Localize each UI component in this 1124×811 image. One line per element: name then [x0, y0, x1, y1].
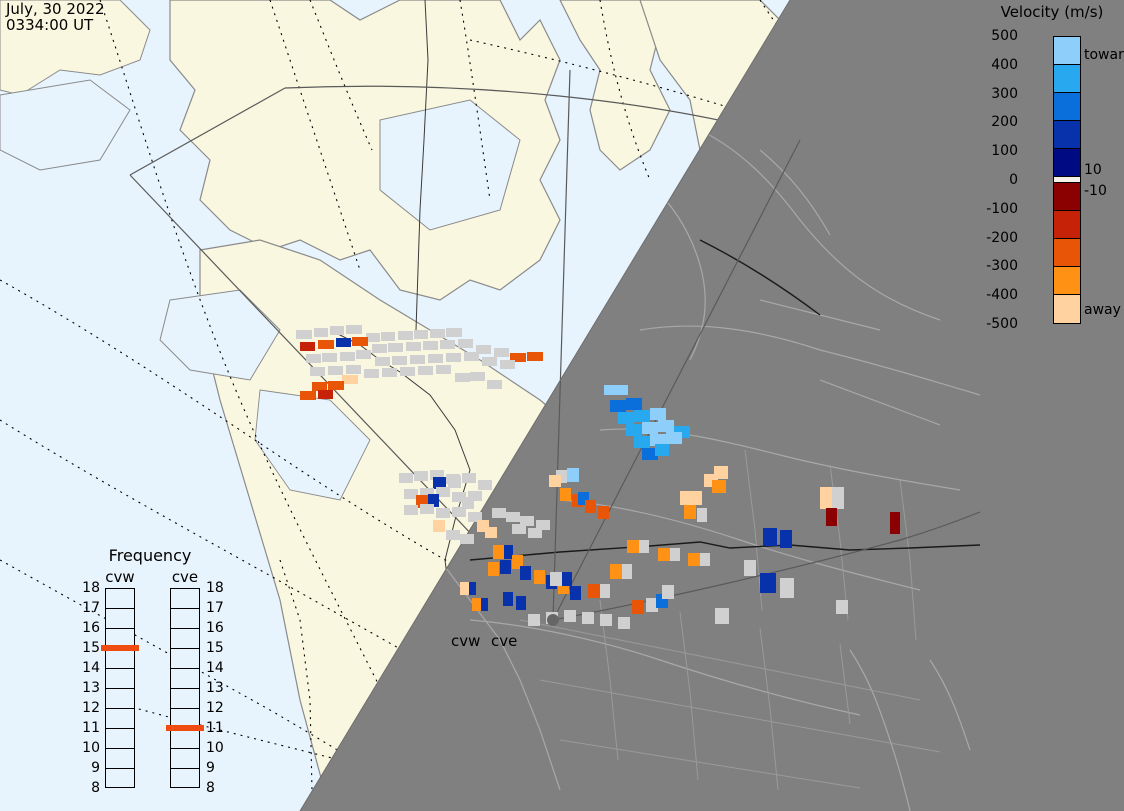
velocity-cell[interactable] — [626, 424, 642, 436]
velocity-cell[interactable] — [300, 391, 316, 400]
ground-scatter-cell[interactable] — [440, 340, 455, 349]
velocity-cell[interactable] — [650, 408, 666, 420]
frequency-scale-label-cvw-15: 15 — [80, 641, 100, 655]
frequency-cell — [171, 749, 199, 769]
velocity-cell[interactable] — [692, 491, 702, 505]
colorbar-swatch-10 — [1054, 295, 1080, 323]
velocity-cell[interactable] — [642, 422, 658, 434]
frequency-cell — [106, 769, 134, 789]
ground-scatter-cell[interactable] — [506, 512, 520, 522]
ground-scatter-cell[interactable] — [446, 530, 460, 540]
frequency-scale-label-cvw-11: 11 — [80, 721, 100, 735]
ground-scatter-cell[interactable] — [306, 354, 321, 363]
frequency-cell — [106, 649, 134, 669]
ground-scatter-cell[interactable] — [423, 341, 438, 350]
frequency-scale-label-cve-11: 11 — [206, 721, 228, 735]
frequency-scale-label-cvw-13: 13 — [80, 681, 100, 695]
velocity-cell[interactable] — [570, 586, 581, 600]
radar-origin-marker[interactable] — [547, 614, 559, 626]
ground-scatter-cell[interactable] — [487, 380, 502, 389]
ground-scatter-cell[interactable] — [322, 353, 337, 362]
ground-scatter-cell[interactable] — [492, 508, 506, 518]
velocity-cell[interactable] — [342, 375, 358, 384]
frequency-cell — [171, 649, 199, 669]
ground-scatter-cell[interactable] — [836, 600, 848, 614]
ground-scatter-cell[interactable] — [398, 331, 413, 340]
frequency-scale-label-cvw-10: 10 — [80, 741, 100, 755]
velocity-cell[interactable] — [503, 592, 513, 606]
colorbar-label-away: away — [1084, 303, 1121, 317]
velocity-cell[interactable] — [567, 468, 579, 482]
velocity-cell[interactable] — [826, 508, 837, 526]
velocity-cell[interactable] — [634, 436, 650, 448]
ground-scatter-cell[interactable] — [296, 330, 312, 339]
ground-scatter-cell[interactable] — [462, 473, 476, 483]
frequency-scale-label-cve-12: 12 — [206, 701, 228, 715]
velocity-cell[interactable] — [312, 382, 327, 391]
frequency-scale-label-cve-17: 17 — [206, 601, 228, 615]
velocity-cell[interactable] — [820, 487, 832, 509]
radar-map-screenshot: July, 30 20220334:00 UT cvw cve Frequenc… — [0, 0, 1124, 811]
velocity-cell[interactable] — [460, 582, 469, 595]
velocity-cell[interactable] — [588, 584, 600, 598]
ground-scatter-cell[interactable] — [399, 473, 413, 483]
velocity-cell[interactable] — [328, 381, 344, 390]
colorbar-swatch-1 — [1054, 65, 1080, 93]
colorbar-tick-neg300: -300 — [986, 259, 1018, 273]
colorbar-tick-500: 500 — [991, 29, 1018, 43]
velocity-cell[interactable] — [527, 352, 543, 361]
velocity-cell[interactable] — [516, 596, 526, 610]
frequency-scale-label-cvw-12: 12 — [80, 701, 100, 715]
ground-scatter-cell[interactable] — [600, 614, 612, 626]
ground-scatter-cell[interactable] — [414, 330, 428, 339]
colorbar-swatch-9 — [1054, 267, 1080, 295]
frequency-legend: Frequency cvw cve 18171615141312111098 1… — [80, 546, 250, 796]
ground-scatter-cell[interactable] — [375, 357, 390, 366]
velocity-cell[interactable] — [352, 337, 368, 346]
frequency-cell — [106, 589, 134, 609]
frequency-scale-label-cve-10: 10 — [206, 741, 228, 755]
frequency-cell — [171, 689, 199, 709]
ground-scatter-cell[interactable] — [418, 366, 433, 375]
velocity-cell[interactable] — [500, 560, 511, 574]
velocity-cell[interactable] — [318, 340, 334, 349]
frequency-scale-label-cve-8: 8 — [206, 781, 228, 795]
ground-scatter-cell[interactable] — [382, 368, 397, 377]
ground-scatter-cell[interactable] — [414, 471, 428, 481]
colorbar-swatches[interactable] — [1053, 36, 1081, 324]
ground-scatter-cell[interactable] — [446, 353, 461, 362]
frequency-cell — [106, 709, 134, 729]
ground-scatter-cell[interactable] — [618, 617, 630, 629]
velocity-cell[interactable] — [472, 598, 481, 611]
frequency-cell — [171, 729, 199, 749]
frequency-scale-label-cve-16: 16 — [206, 621, 228, 635]
velocity-cell[interactable] — [469, 582, 476, 595]
frequency-column-name-cve: cve — [163, 568, 207, 586]
velocity-cell[interactable] — [890, 512, 900, 534]
colorbar-swatch-4 — [1054, 149, 1080, 177]
ground-scatter-cell[interactable] — [436, 365, 451, 374]
velocity-cell[interactable] — [604, 385, 628, 395]
frequency-scale-label-cvw-14: 14 — [80, 661, 100, 675]
ground-scatter-cell[interactable] — [715, 608, 729, 624]
ground-scatter-cell[interactable] — [639, 540, 649, 553]
colorbar-label-toward: toward — [1084, 48, 1124, 62]
ground-scatter-cell[interactable] — [458, 339, 473, 348]
frequency-scale-label-cvw-9: 9 — [80, 761, 100, 775]
map-panel[interactable]: July, 30 20220334:00 UT cvw cve Frequenc… — [0, 0, 980, 811]
frequency-scale-label-cve-9: 9 — [206, 761, 228, 775]
velocity-cell[interactable] — [626, 398, 642, 410]
stamp-time: 0334:00 UT — [6, 16, 93, 34]
ground-scatter-cell[interactable] — [528, 528, 542, 538]
ground-scatter-cell[interactable] — [428, 354, 443, 363]
colorbar-tick-200: 200 — [991, 115, 1018, 129]
ground-scatter-cell[interactable] — [381, 332, 395, 341]
velocity-cell[interactable] — [780, 530, 792, 548]
ground-scatter-cell[interactable] — [482, 357, 497, 366]
ground-scatter-cell[interactable] — [662, 585, 674, 599]
colorbar-swatch-7 — [1054, 211, 1080, 239]
frequency-scale-label-cve-13: 13 — [206, 681, 228, 695]
ground-scatter-cell[interactable] — [582, 612, 594, 624]
colorbar-swatch-6 — [1054, 183, 1080, 211]
velocity-cell[interactable] — [560, 488, 571, 501]
velocity-cell[interactable] — [680, 491, 692, 505]
frequency-bar-cvw[interactable] — [105, 588, 135, 788]
velocity-cell[interactable] — [760, 573, 776, 593]
ground-scatter-cell[interactable] — [697, 508, 707, 522]
colorbar-tick-neg500: -500 — [986, 317, 1018, 331]
frequency-cell — [106, 689, 134, 709]
frequency-cell — [106, 729, 134, 749]
ground-scatter-cell[interactable] — [404, 489, 418, 499]
frequency-scale-label-cvw-16: 16 — [80, 621, 100, 635]
ground-scatter-cell[interactable] — [420, 504, 434, 514]
frequency-cell — [106, 609, 134, 629]
velocity-cell[interactable] — [485, 527, 497, 538]
ground-scatter-cell[interactable] — [372, 344, 387, 353]
ground-scatter-cell[interactable] — [448, 476, 461, 488]
frequency-scale-label-cve-18: 18 — [206, 581, 228, 595]
colorbar-label-neg-ten: -10 — [1084, 184, 1107, 198]
ground-scatter-cell[interactable] — [340, 352, 355, 361]
ground-scatter-cell[interactable] — [400, 367, 415, 376]
frequency-cell — [171, 629, 199, 649]
ground-scatter-cell[interactable] — [550, 572, 562, 586]
frequency-scale-label-cvw-17: 17 — [80, 601, 100, 615]
frequency-column-name-cvw: cvw — [98, 568, 142, 586]
station-label-cve: cve — [491, 632, 517, 650]
ground-scatter-cell[interactable] — [478, 480, 492, 490]
colorbar-swatch-3 — [1054, 121, 1080, 149]
colorbar-panel: Velocity (m/s) 5004003002001000-100-200-… — [980, 0, 1124, 811]
colorbar-tick-neg100: -100 — [986, 202, 1018, 216]
datetime-stamp: July, 30 20220334:00 UT — [6, 1, 105, 33]
colorbar-tick-100: 100 — [991, 144, 1018, 158]
ground-scatter-cell[interactable] — [464, 352, 479, 361]
velocity-cell[interactable] — [658, 420, 674, 432]
ground-scatter-cell[interactable] — [392, 356, 407, 365]
velocity-cell[interactable] — [666, 432, 682, 444]
colorbar-swatch-8 — [1054, 239, 1080, 267]
frequency-title: Frequency — [80, 546, 220, 565]
colorbar-tick-neg400: -400 — [986, 288, 1018, 302]
frequency-scale-label-cve-15: 15 — [206, 641, 228, 655]
ground-scatter-cell[interactable] — [406, 342, 421, 351]
velocity-cell[interactable] — [336, 338, 351, 347]
ground-scatter-cell[interactable] — [346, 365, 361, 374]
velocity-cell[interactable] — [493, 545, 504, 559]
ground-scatter-cell[interactable] — [600, 584, 610, 598]
velocity-cell[interactable] — [318, 390, 333, 399]
ground-scatter-cell[interactable] — [700, 553, 710, 566]
velocity-cell[interactable] — [684, 505, 696, 519]
ground-scatter-cell[interactable] — [528, 614, 540, 626]
station-label-cvw: cvw — [451, 632, 480, 650]
ground-scatter-cell[interactable] — [780, 578, 794, 598]
frequency-marker-cvw — [101, 645, 139, 651]
velocity-cell[interactable] — [481, 598, 488, 611]
velocity-cell[interactable] — [598, 506, 609, 519]
colorbar-label-ten: 10 — [1084, 163, 1102, 177]
colorbar-tick-neg200: -200 — [986, 231, 1018, 245]
frequency-cell — [171, 589, 199, 609]
ground-scatter-cell[interactable] — [622, 564, 632, 579]
frequency-marker-cve — [166, 725, 204, 731]
velocity-cell[interactable] — [610, 564, 622, 579]
ground-scatter-cell[interactable] — [470, 372, 485, 381]
colorbar-swatch-0 — [1054, 37, 1080, 65]
velocity-cell[interactable] — [610, 400, 626, 412]
frequency-scale-label-cvw-18: 18 — [80, 581, 100, 595]
velocity-cell[interactable] — [488, 562, 499, 576]
velocity-cell[interactable] — [534, 570, 545, 584]
ground-scatter-cell[interactable] — [494, 348, 509, 357]
ground-scatter-cell[interactable] — [356, 350, 371, 359]
ground-scatter-cell[interactable] — [346, 325, 362, 334]
ground-scatter-cell[interactable] — [310, 367, 325, 376]
velocity-cell[interactable] — [585, 500, 596, 513]
velocity-cell[interactable] — [504, 545, 513, 559]
frequency-cell — [106, 669, 134, 689]
velocity-cell[interactable] — [549, 475, 561, 487]
velocity-cell[interactable] — [655, 444, 669, 456]
velocity-cell[interactable] — [632, 600, 644, 614]
ground-scatter-cell[interactable] — [832, 487, 844, 509]
velocity-cell[interactable] — [627, 540, 639, 553]
frequency-cell — [171, 669, 199, 689]
ground-scatter-cell[interactable] — [564, 610, 576, 622]
frequency-cell — [171, 609, 199, 629]
velocity-cell[interactable] — [562, 572, 572, 586]
velocity-cell[interactable] — [658, 548, 670, 561]
ground-scatter-cell[interactable] — [670, 548, 680, 561]
colorbar-tick-300: 300 — [991, 87, 1018, 101]
ground-scatter-cell[interactable] — [744, 560, 756, 576]
ground-scatter-cell[interactable] — [436, 508, 450, 518]
ground-scatter-cell[interactable] — [512, 524, 526, 534]
velocity-cell[interactable] — [433, 520, 445, 532]
ground-scatter-cell[interactable] — [455, 373, 470, 382]
ground-scatter-cell[interactable] — [410, 355, 425, 364]
ground-scatter-cell[interactable] — [314, 328, 328, 337]
velocity-cell[interactable] — [634, 410, 650, 422]
frequency-cell — [171, 769, 199, 789]
colorbar-title: Velocity (m/s) — [980, 3, 1124, 21]
frequency-cell — [106, 749, 134, 769]
ground-scatter-cell[interactable] — [500, 360, 515, 369]
colorbar-tick-0: 0 — [1009, 173, 1018, 187]
velocity-cell[interactable] — [763, 528, 777, 546]
frequency-scale-label-cve-14: 14 — [206, 661, 228, 675]
colorbar-swatch-2 — [1054, 93, 1080, 121]
ground-scatter-cell[interactable] — [364, 369, 379, 378]
ground-scatter-cell[interactable] — [366, 333, 380, 342]
ground-scatter-cell[interactable] — [328, 366, 343, 375]
colorbar-tick-400: 400 — [991, 58, 1018, 72]
velocity-cell[interactable] — [300, 342, 315, 351]
ground-scatter-cell[interactable] — [446, 328, 462, 337]
velocity-cell[interactable] — [712, 480, 726, 493]
frequency-scale-label-cvw-8: 8 — [80, 781, 100, 795]
ground-scatter-cell[interactable] — [430, 329, 445, 338]
ground-scatter-cell[interactable] — [452, 507, 466, 517]
ground-scatter-cell[interactable] — [330, 326, 344, 335]
velocity-cell[interactable] — [688, 553, 700, 566]
ground-scatter-cell[interactable] — [404, 505, 418, 515]
ground-scatter-cell[interactable] — [460, 534, 474, 544]
frequency-bar-cve[interactable] — [170, 588, 200, 788]
ground-scatter-cell[interactable] — [388, 343, 403, 352]
velocity-cell[interactable] — [618, 412, 634, 424]
velocity-cell[interactable] — [520, 566, 531, 580]
